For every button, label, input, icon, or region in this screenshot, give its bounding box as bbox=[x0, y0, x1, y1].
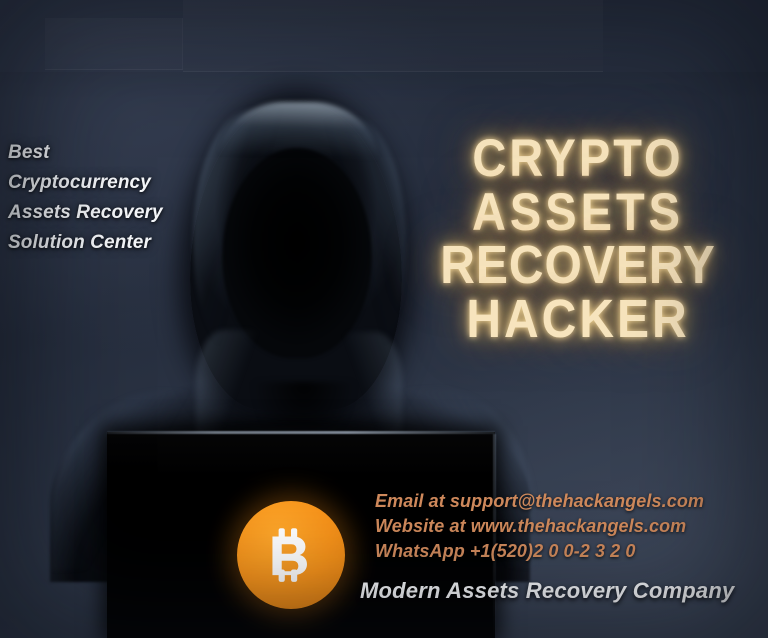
laptop-top-bezel bbox=[107, 431, 495, 434]
main-title-line-assets: ASSETS bbox=[392, 182, 764, 242]
contact-email[interactable]: Email at support@thehackangels.com bbox=[375, 489, 768, 514]
main-title-line-hacker: HACKER bbox=[392, 290, 764, 350]
promo-poster: Best Cryptocurrency Assets Recovery Solu… bbox=[0, 0, 768, 638]
main-title: CRYPTO ASSETS RECOVERY HACKER bbox=[392, 128, 764, 344]
left-headline-line-1: Best bbox=[8, 138, 218, 168]
contact-block: Email at support@thehackangels.com Websi… bbox=[375, 489, 768, 564]
face-shadow-void bbox=[222, 148, 372, 358]
main-title-line-crypto: CRYPTO bbox=[392, 128, 764, 188]
left-headline-line-3: Assets Recovery bbox=[8, 198, 218, 228]
main-title-line-recovery: RECOVERY bbox=[392, 236, 764, 296]
contact-website[interactable]: Website at www.thehackangels.com bbox=[375, 514, 768, 539]
left-headline-line-2: Cryptocurrency bbox=[8, 168, 218, 198]
left-headline: Best Cryptocurrency Assets Recovery Solu… bbox=[8, 138, 218, 258]
bitcoin-icon bbox=[237, 501, 345, 609]
bottom-tagline: Modern Assets Recovery Company bbox=[360, 578, 768, 604]
left-headline-line-4: Solution Center bbox=[8, 228, 218, 258]
contact-whatsapp[interactable]: WhatsApp +1(520)2 0 0-2 3 2 0 bbox=[375, 539, 768, 564]
